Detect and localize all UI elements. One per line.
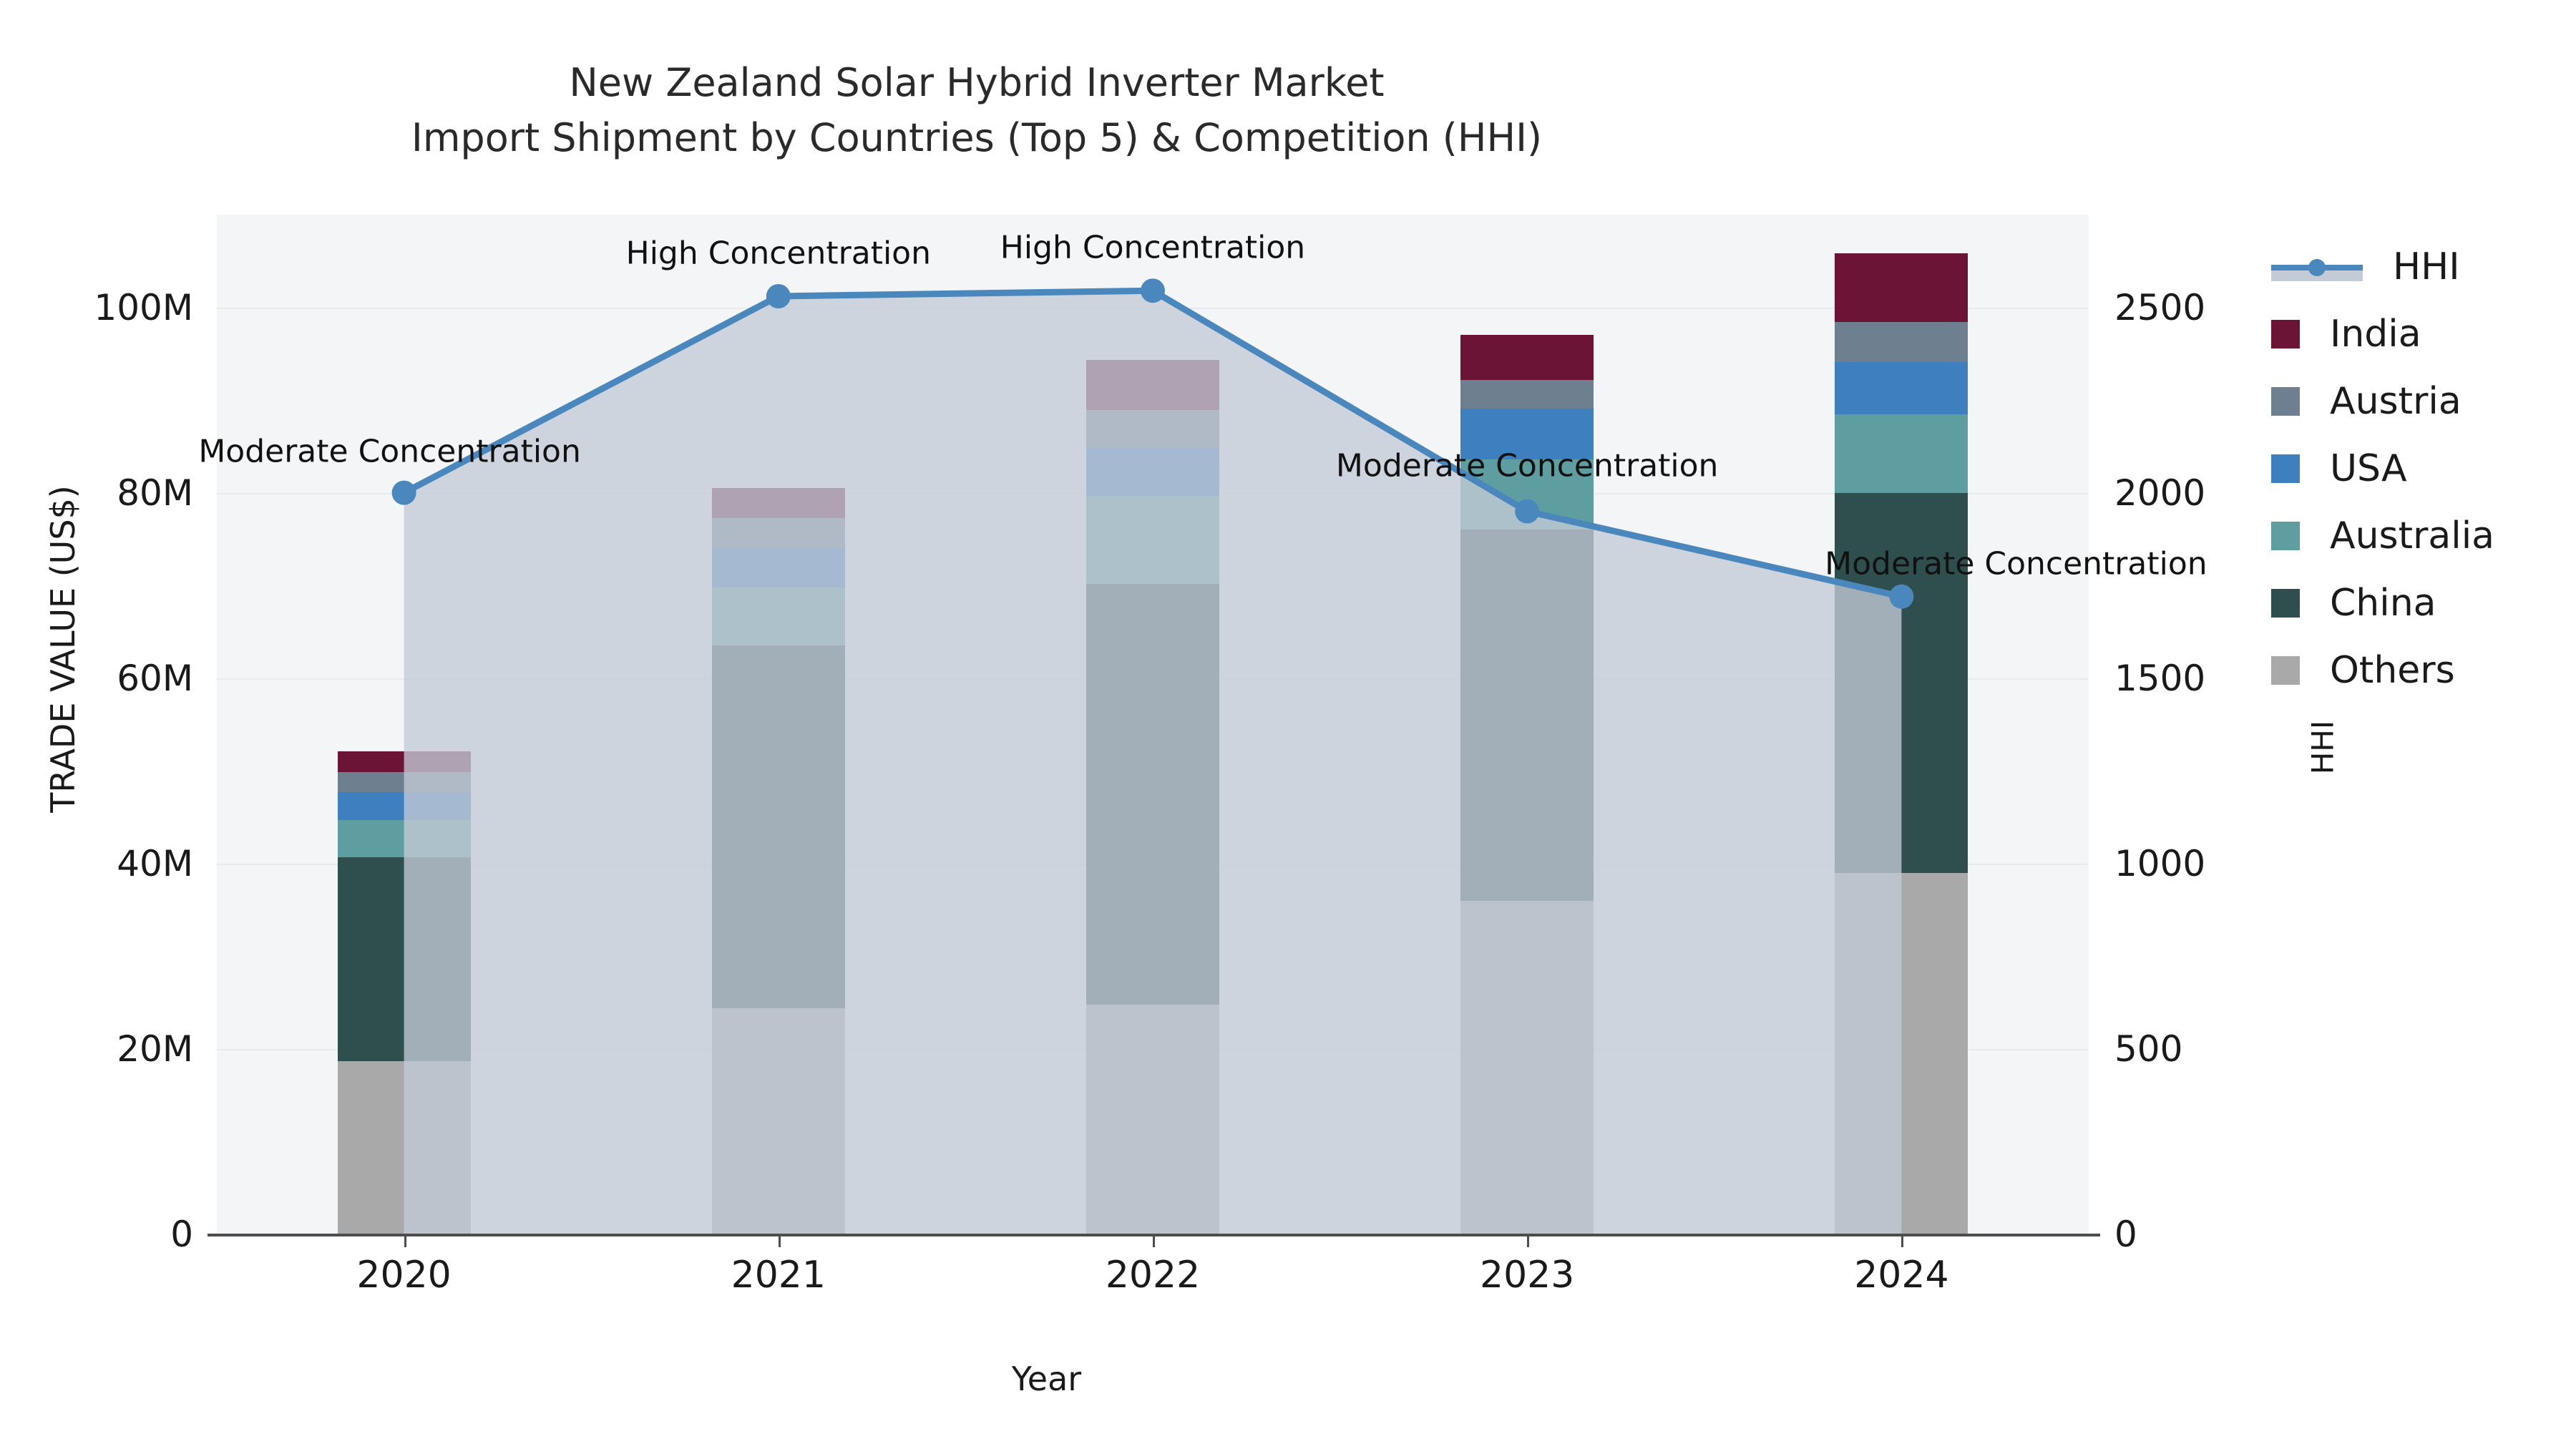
y2-axis-tick-label: 1000 [2114, 843, 2205, 884]
legend-item-others[interactable]: Others [2271, 637, 2494, 704]
bar-segment[interactable] [1460, 335, 1594, 379]
bar-segment[interactable] [1086, 410, 1219, 447]
bar-segment[interactable] [712, 518, 845, 547]
bar-segment[interactable] [1086, 360, 1219, 410]
legend-item-usa[interactable]: USA [2271, 435, 2494, 502]
legend-item-label: India [2330, 313, 2421, 356]
legend-item-austria[interactable]: Austria [2271, 368, 2494, 435]
concentration-annotation: Moderate Concentration [198, 433, 581, 469]
bar-segment[interactable] [1835, 253, 1968, 322]
x-axis-title: Year [0, 1360, 2093, 1398]
hhi-line-marker-icon [2271, 253, 2363, 281]
y-axis-tick-label: 0 [14, 1214, 193, 1255]
bar-segment[interactable] [338, 792, 471, 820]
legend-item-label: China [2330, 582, 2436, 625]
bar-segment[interactable] [1086, 496, 1219, 584]
bar-segment[interactable] [338, 820, 471, 857]
y-axis-tick-label: 60M [14, 658, 193, 699]
concentration-annotation: Moderate Concentration [1336, 447, 1719, 484]
bar-segment[interactable] [338, 1061, 471, 1234]
legend-swatch-icon [2271, 454, 2300, 483]
y-axis-tick-label: 100M [14, 287, 193, 328]
y2-gridline [217, 308, 2089, 309]
chart-root: New Zealand Solar Hybrid Inverter Market… [0, 0, 2576, 1449]
y2-axis-tick-label: 500 [2114, 1028, 2182, 1070]
bar-segment[interactable] [712, 1008, 845, 1234]
concentration-annotation: High Concentration [1000, 230, 1305, 266]
x-axis-line [208, 1234, 2100, 1236]
legend-swatch-icon [2271, 589, 2300, 618]
x-axis-tick-label: 2021 [731, 1254, 826, 1297]
legend-swatch-icon [2271, 320, 2300, 348]
legend-item-label: Austria [2330, 380, 2462, 423]
chart-title-line-1: New Zealand Solar Hybrid Inverter Market [0, 56, 1953, 111]
bar-segment[interactable] [1086, 1005, 1219, 1234]
x-axis-tick-label: 2020 [356, 1254, 451, 1297]
bar-segment[interactable] [1460, 530, 1594, 900]
legend-item-india[interactable]: India [2271, 301, 2494, 368]
bar-segment[interactable] [712, 587, 845, 646]
bar-segment[interactable] [1460, 901, 1594, 1234]
legend-item-australia[interactable]: Australia [2271, 502, 2494, 570]
bar-segment[interactable] [712, 547, 845, 587]
legend-item-china[interactable]: China [2271, 570, 2494, 637]
legend-item-label: USA [2330, 447, 2407, 490]
bar-segment[interactable] [1835, 414, 1968, 493]
concentration-annotation: High Concentration [626, 235, 931, 272]
concentration-annotation: Moderate Concentration [1825, 545, 2207, 582]
chart-title: New Zealand Solar Hybrid Inverter Market… [0, 56, 1953, 165]
bar-segment[interactable] [1835, 873, 1968, 1234]
legend-swatch-icon [2271, 656, 2300, 685]
legend-item-label: Australia [2330, 514, 2494, 557]
bar-segment[interactable] [1086, 447, 1219, 495]
y2-axis-tick-label: 1500 [2114, 658, 2205, 699]
bar-segment[interactable] [1835, 362, 1968, 414]
chart-title-line-2: Import Shipment by Countries (Top 5) & C… [0, 111, 1953, 166]
y-axis-tick-label: 40M [14, 843, 193, 884]
legend-item-label: HHI [2393, 245, 2460, 288]
legend: HHIIndiaAustriaUSAAustraliaChinaOthers [2271, 233, 2494, 704]
legend-swatch-icon [2271, 387, 2300, 416]
bar-segment[interactable] [1835, 322, 1968, 362]
bar-segment[interactable] [1086, 584, 1219, 1005]
y-axis-title: TRADE VALUE (US$) [44, 449, 82, 849]
y-axis-tick-label: 20M [14, 1028, 193, 1070]
y2-axis-tick-label: 2000 [2114, 472, 2205, 514]
bar-segment[interactable] [338, 751, 471, 772]
bar-segment[interactable] [338, 772, 471, 793]
x-axis-tick-label: 2024 [1854, 1254, 1948, 1297]
x-axis-tick-label: 2022 [1106, 1254, 1200, 1297]
bar-segment[interactable] [1460, 380, 1594, 409]
x-axis-tick-label: 2023 [1480, 1254, 1574, 1297]
bar-segment[interactable] [712, 488, 845, 517]
bar-segment[interactable] [338, 857, 471, 1061]
legend-swatch-icon [2271, 522, 2300, 550]
legend-item-label: Others [2330, 649, 2455, 692]
legend-item-hhi[interactable]: HHI [2271, 233, 2494, 301]
y2-axis-tick-label: 0 [2114, 1214, 2137, 1255]
bar-segment[interactable] [712, 645, 845, 1008]
y2-axis-tick-label: 2500 [2114, 287, 2205, 328]
y-axis-tick-label: 80M [14, 472, 193, 514]
